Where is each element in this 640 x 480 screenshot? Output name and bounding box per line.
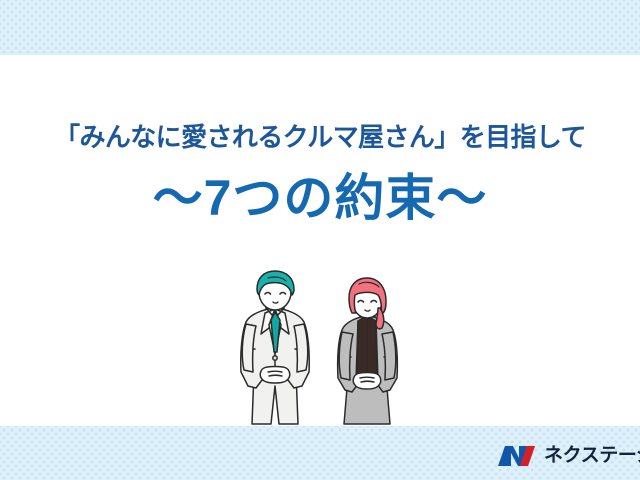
headline-line-1: 「みんなに愛されるクルマ屋さん」を目指して (0, 118, 640, 156)
top-dotted-band (0, 0, 640, 55)
female-staff-figure (338, 278, 398, 424)
two-bowing-staff-illustration (228, 268, 418, 430)
headline-block: 「みんなに愛されるクルマ屋さん」を目指して ～7つの約束～ (0, 118, 640, 226)
nextage-logo-text: ネクステージ (544, 445, 640, 467)
nextage-n-mark-icon (497, 444, 537, 468)
headline-line-2: ～7つの約束～ (0, 170, 640, 226)
nextage-logo: ネクステージ (497, 441, 640, 471)
male-staff-figure (241, 271, 310, 424)
slide-canvas: 「みんなに愛されるクルマ屋さん」を目指して ～7つの約束～ (0, 0, 640, 480)
